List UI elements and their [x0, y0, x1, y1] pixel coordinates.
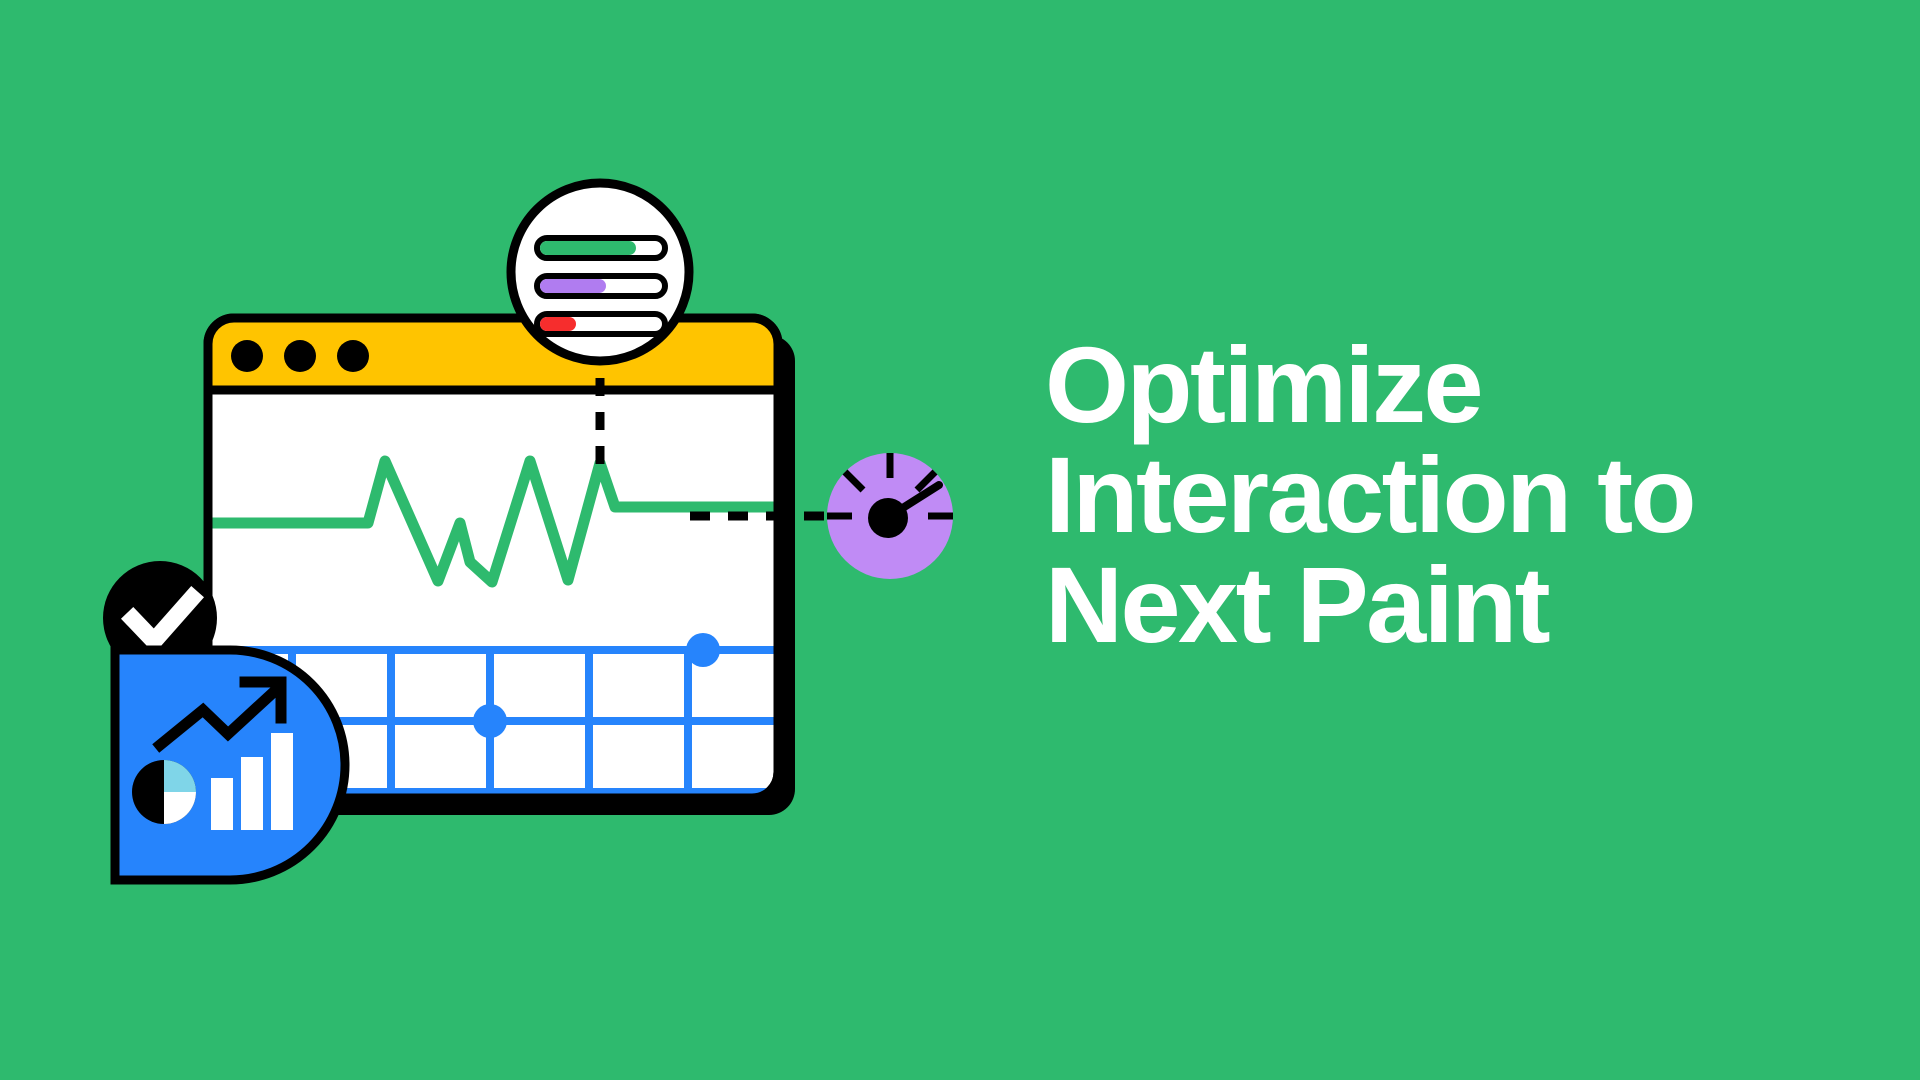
headline-line-3: Next Paint — [1045, 550, 1865, 660]
headline-line-1: Optimize — [1045, 330, 1865, 440]
bar-fill — [540, 279, 606, 293]
shield-bar-3 — [271, 733, 293, 830]
metrics-bar-needs-improvement — [537, 276, 665, 296]
window-dot-3[interactable] — [337, 340, 369, 372]
metrics-bar-poor — [537, 314, 665, 334]
shield-bar-2 — [241, 757, 263, 830]
window-dot-2[interactable] — [284, 340, 316, 372]
bar-fill — [540, 317, 576, 331]
window-dot-1[interactable] — [231, 340, 263, 372]
shield-bar-1 — [211, 778, 233, 830]
grid-data-point[interactable] — [473, 704, 507, 738]
bar-fill — [540, 241, 636, 255]
page-title: Optimize Interaction to Next Paint — [1045, 330, 1865, 660]
metrics-badge[interactable] — [511, 183, 689, 361]
gauge-hub — [868, 498, 908, 538]
promo-banner: Optimize Interaction to Next Paint — [0, 0, 1920, 1080]
speed-gauge[interactable] — [827, 453, 953, 579]
pie-chart-icon — [132, 760, 196, 824]
headline-line-2: Interaction to — [1045, 440, 1865, 550]
grid-data-point[interactable] — [686, 633, 720, 667]
analytics-shield[interactable] — [115, 650, 345, 880]
metrics-bar-good — [537, 238, 665, 258]
